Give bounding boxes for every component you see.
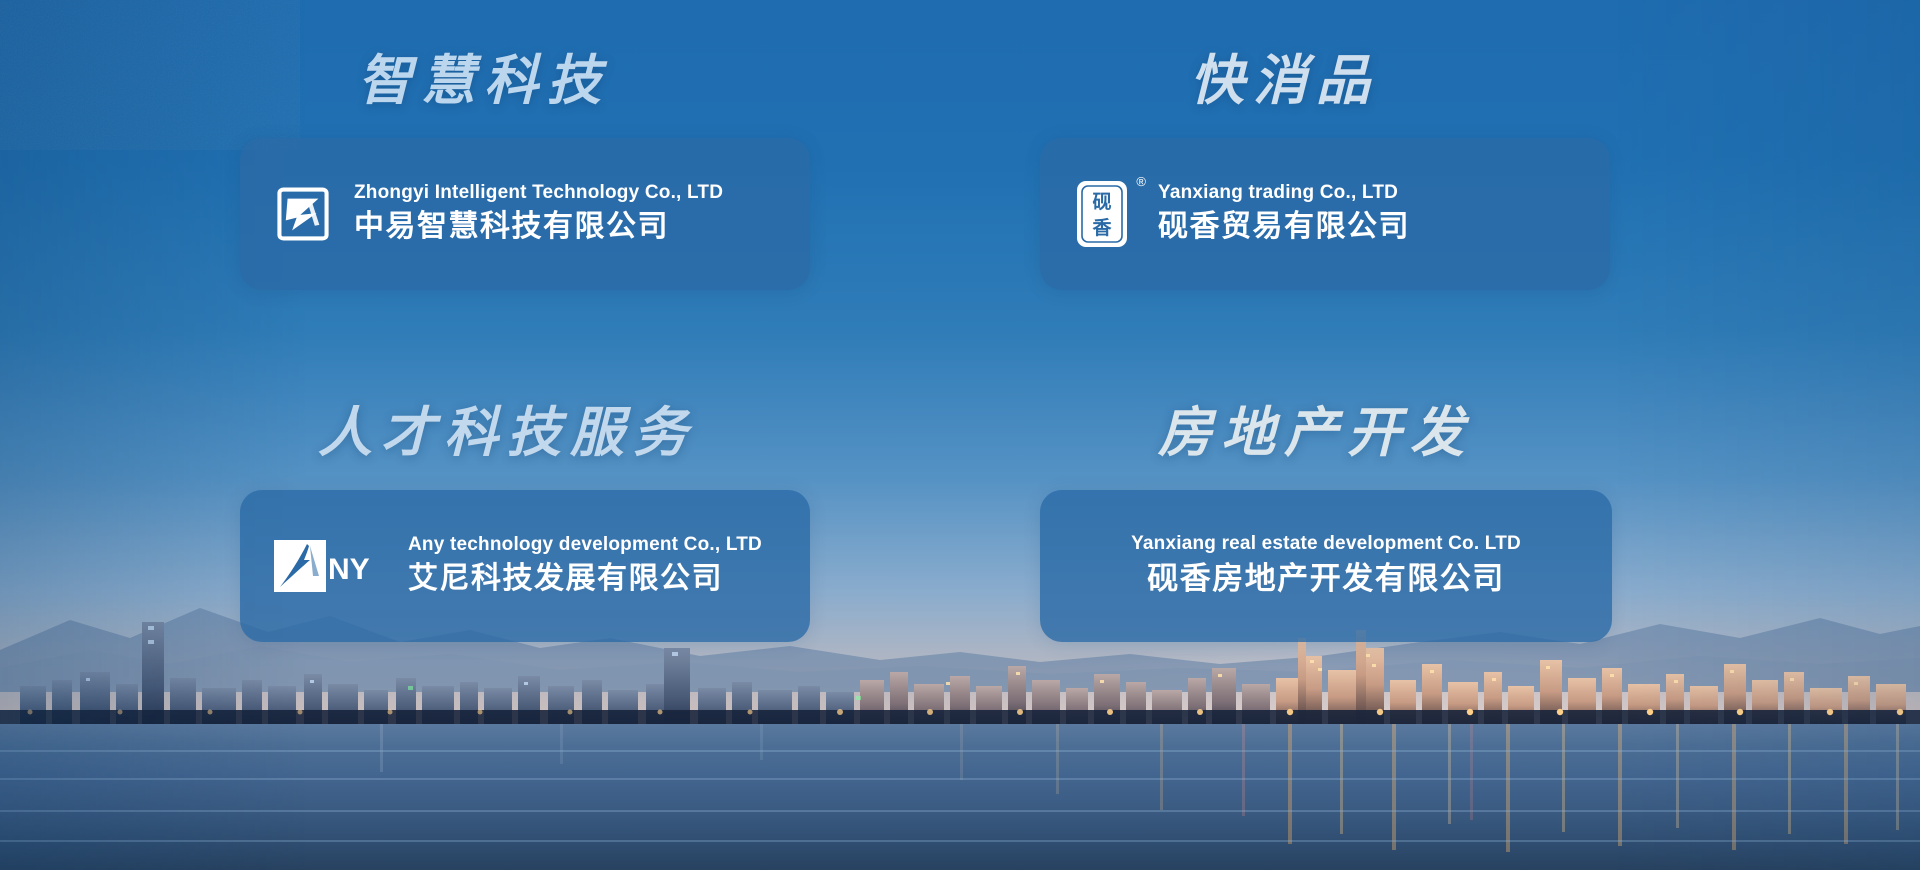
company-name-cn-any: 艾尼科技发展有限公司 bbox=[408, 559, 762, 600]
section-title-talent-tech-services: 人才科技服务 bbox=[240, 406, 880, 460]
company-name-en-yanxiang-trading: Yanxiang trading Co., LTD bbox=[1158, 181, 1410, 205]
yanxiang-seal-logo-icon: 砚 香 bbox=[1074, 177, 1136, 251]
company-card-yanxiang-trading[interactable]: 砚 香 ® Yanxiang trading Co., LTD 砚香贸易有限公司 bbox=[1040, 138, 1610, 290]
seal-char-bottom: 香 bbox=[1091, 217, 1112, 239]
section-real-estate: 房地产开发 Yanxiang real estate development C… bbox=[1040, 406, 1680, 758]
seal-char-top: 砚 bbox=[1092, 191, 1111, 213]
company-name-en-any: Any technology development Co., LTD bbox=[408, 533, 762, 557]
company-card-any[interactable]: NY Any technology development Co., LTD 艾… bbox=[240, 490, 810, 642]
company-name-en-yanxiang-real-estate: Yanxiang real estate development Co. LTD bbox=[1131, 532, 1521, 556]
any-mountain-logo-icon: NY bbox=[274, 540, 386, 592]
company-card-zhongyi[interactable]: Zhongyi Intelligent Technology Co., LTD … bbox=[240, 138, 810, 290]
section-title-fmcg: 快消品 bbox=[1040, 54, 1680, 108]
section-talent-tech-services: 人才科技服务 NY Any technology development Co.… bbox=[240, 406, 880, 758]
section-smart-technology: 智慧科技 Zhongyi Intelligent Technology Co.,… bbox=[240, 54, 880, 406]
company-logo-yanxiang-trading: 砚 香 ® bbox=[1074, 177, 1136, 251]
company-text-zhongyi: Zhongyi Intelligent Technology Co., LTD … bbox=[354, 181, 723, 247]
zhongyi-z-logo-icon bbox=[274, 185, 332, 243]
banner-stage: 智慧科技 Zhongyi Intelligent Technology Co.,… bbox=[0, 0, 1920, 870]
company-name-cn-yanxiang-real-estate: 砚香房地产开发有限公司 bbox=[1147, 558, 1505, 600]
company-text-yanxiang-trading: Yanxiang trading Co., LTD 砚香贸易有限公司 bbox=[1158, 181, 1410, 247]
company-text-any: Any technology development Co., LTD 艾尼科技… bbox=[408, 533, 762, 599]
company-name-cn-yanxiang-trading: 砚香贸易有限公司 bbox=[1158, 207, 1410, 248]
section-fmcg: 快消品 砚 香 ® bbox=[1040, 54, 1680, 406]
section-title-smart-technology: 智慧科技 bbox=[240, 54, 880, 108]
company-logo-any: NY bbox=[274, 540, 386, 592]
company-card-yanxiang-real-estate[interactable]: Yanxiang real estate development Co. LTD… bbox=[1040, 490, 1612, 642]
company-text-yanxiang-real-estate: Yanxiang real estate development Co. LTD… bbox=[1131, 532, 1521, 600]
company-name-cn-zhongyi: 中易智慧科技有限公司 bbox=[354, 207, 723, 248]
company-logo-zhongyi bbox=[274, 185, 332, 243]
any-logo-text: NY bbox=[328, 553, 370, 586]
business-sections-grid: 智慧科技 Zhongyi Intelligent Technology Co.,… bbox=[0, 0, 1920, 870]
section-title-real-estate: 房地产开发 bbox=[1040, 406, 1680, 460]
company-name-en-zhongyi: Zhongyi Intelligent Technology Co., LTD bbox=[354, 181, 723, 205]
registered-trademark-icon: ® bbox=[1136, 175, 1146, 188]
